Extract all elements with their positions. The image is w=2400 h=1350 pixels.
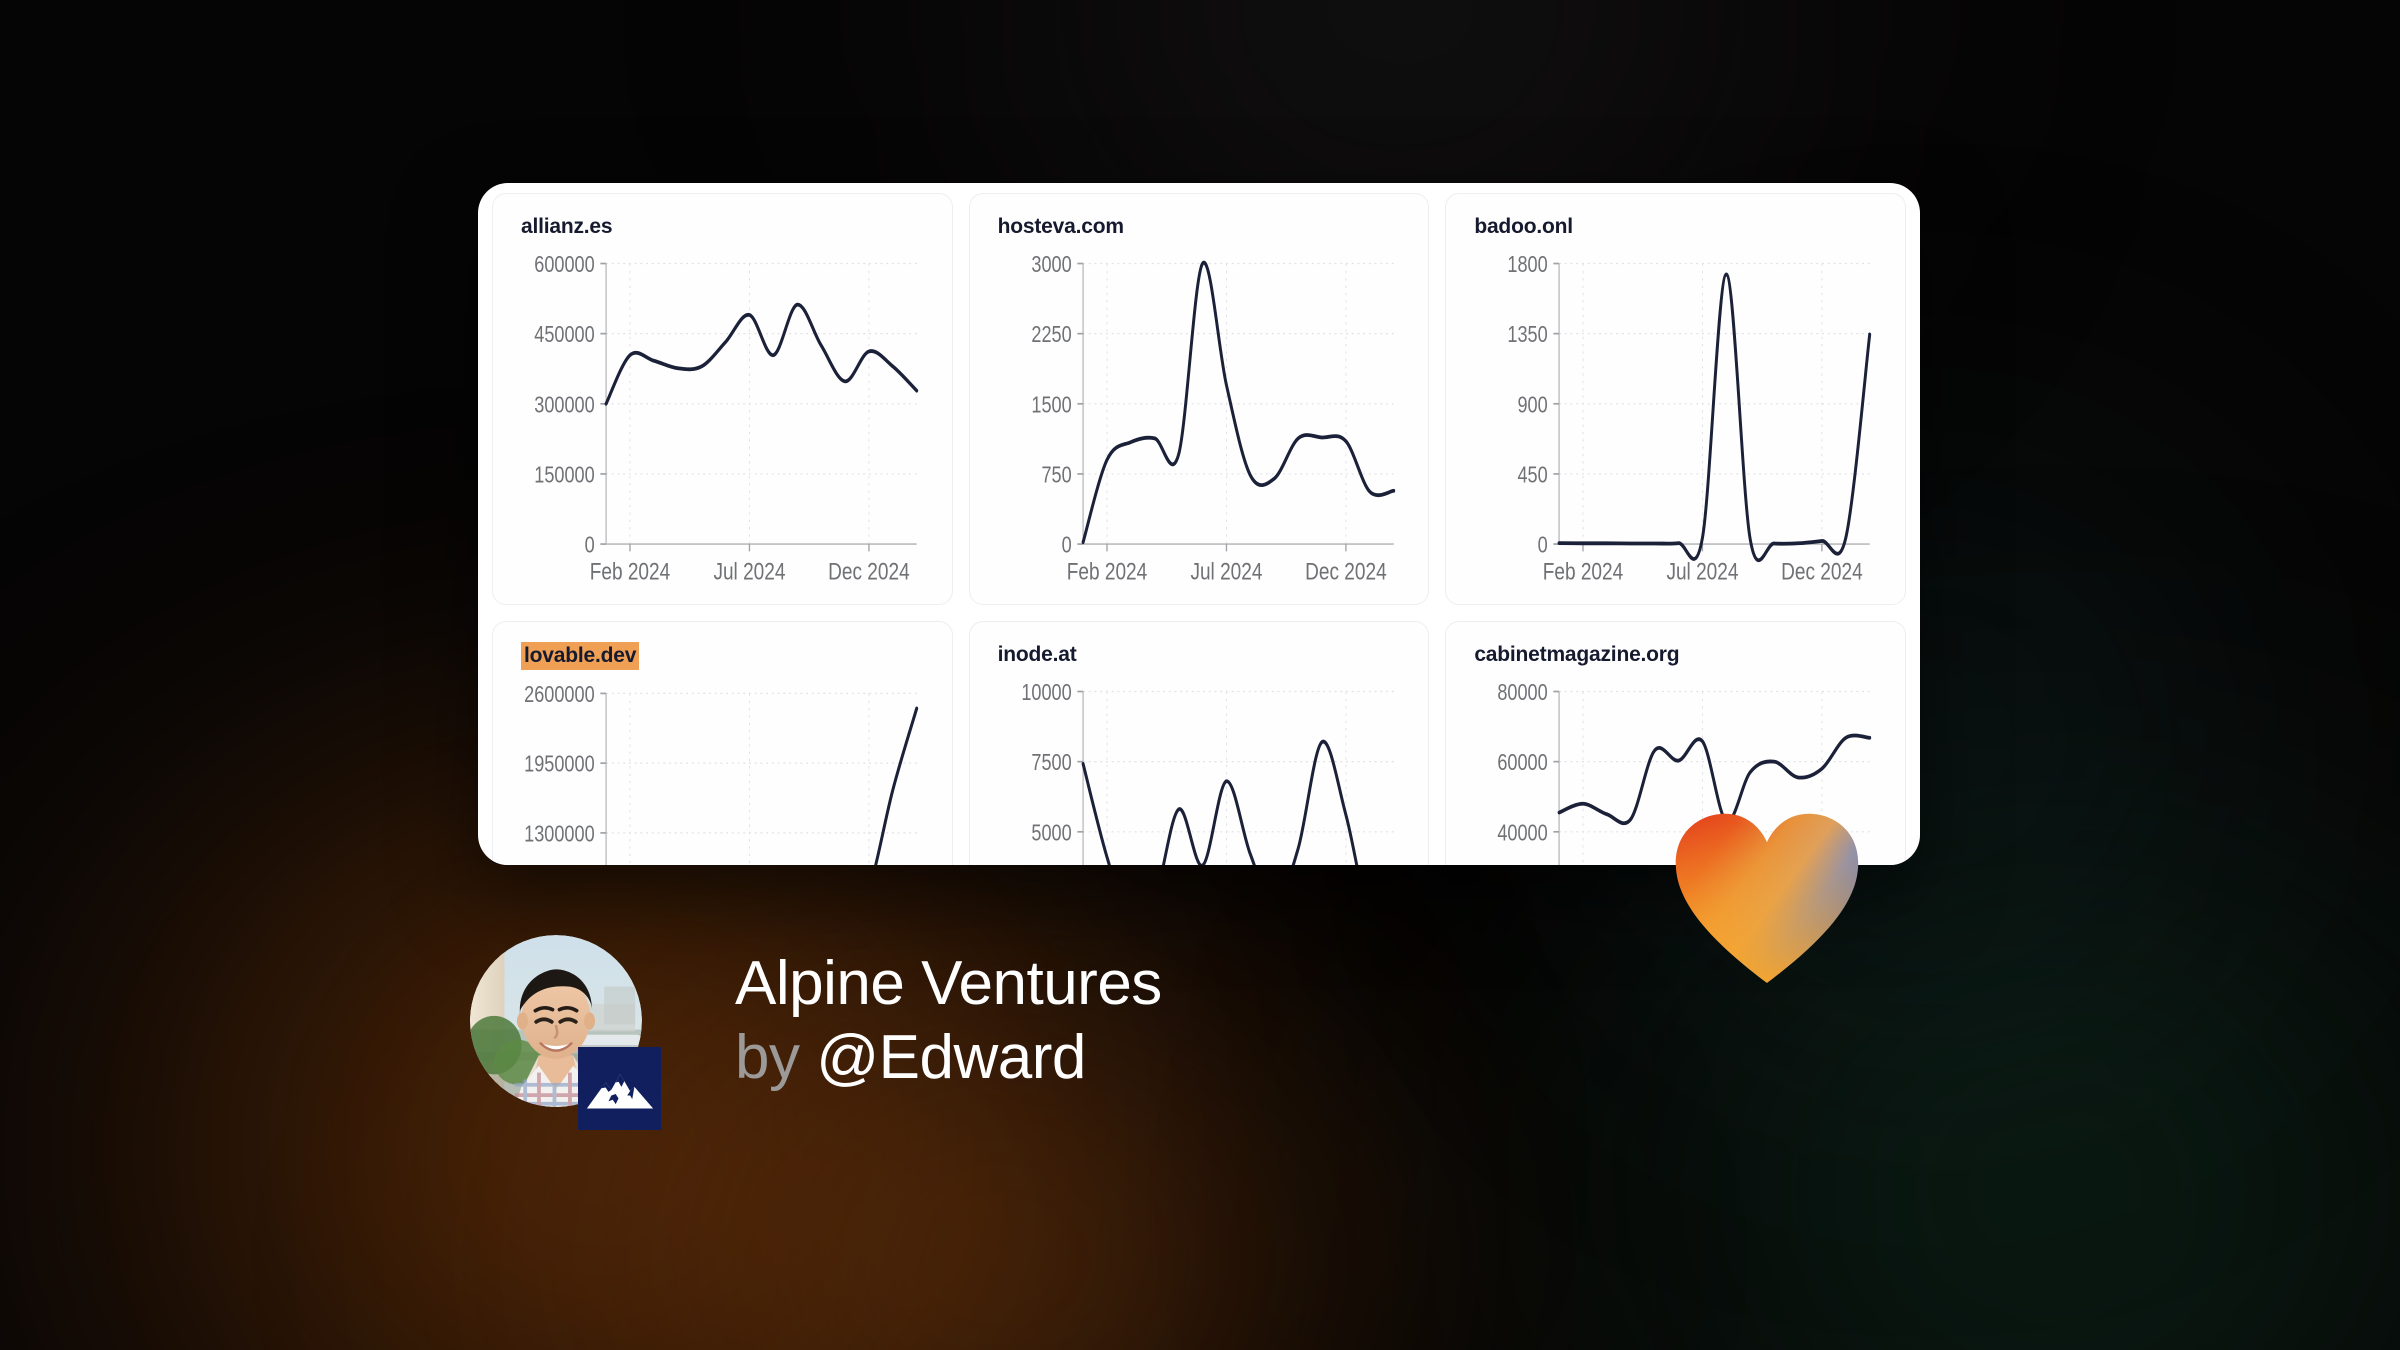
svg-text:3000: 3000 <box>1031 252 1071 278</box>
svg-text:Jul 2024: Jul 2024 <box>713 557 785 585</box>
chart-plot: 0150000300000450000600000Feb 2024Jul 202… <box>507 244 938 598</box>
chart-card-title: lovable.dev <box>521 642 639 670</box>
brand-handle: @Edward <box>816 1023 1086 1092</box>
brand-byline: by @Edward <box>735 1025 1162 1091</box>
by-label: by <box>735 1023 799 1092</box>
svg-text:600000: 600000 <box>534 252 594 278</box>
svg-text:60000: 60000 <box>1498 750 1548 776</box>
svg-text:Dec 2024: Dec 2024 <box>1305 557 1387 585</box>
svg-text:0: 0 <box>1538 533 1548 559</box>
gradient-heart-icon <box>1672 810 1862 985</box>
svg-text:Dec 2024: Dec 2024 <box>1781 557 1863 585</box>
chart-plot: 045090013501800Feb 2024Jul 2024Dec 2024 <box>1460 244 1891 598</box>
avatar-wrapper <box>470 935 642 1107</box>
chart-card[interactable]: allianz.es0150000300000450000600000Feb 2… <box>492 193 953 605</box>
svg-text:Dec 2024: Dec 2024 <box>828 557 910 585</box>
svg-text:2600000: 2600000 <box>524 682 594 708</box>
chart-plot: 0750150022503000Feb 2024Jul 2024Dec 2024 <box>984 244 1415 598</box>
svg-text:0: 0 <box>585 533 595 559</box>
svg-text:1950000: 1950000 <box>524 752 594 778</box>
svg-text:Feb 2024: Feb 2024 <box>1066 557 1146 585</box>
svg-text:1350: 1350 <box>1508 322 1548 348</box>
chart-card[interactable]: inode.at25005000750010000Feb 2024Jul 202… <box>969 621 1430 865</box>
svg-text:Feb 2024: Feb 2024 <box>590 557 670 585</box>
svg-text:750: 750 <box>1041 463 1071 489</box>
chart-card-title: inode.at <box>998 642 1077 668</box>
chart-card[interactable]: lovable.dev650000130000019500002600000Fe… <box>492 621 953 865</box>
chart-grid: allianz.es0150000300000450000600000Feb 2… <box>478 183 1920 865</box>
chart-card-title: cabinetmagazine.org <box>1474 642 1679 668</box>
branding-block: Alpine Ventures by @Edward <box>470 935 1162 1107</box>
svg-text:10000: 10000 <box>1021 680 1071 706</box>
svg-text:2250: 2250 <box>1031 322 1071 348</box>
svg-text:1500: 1500 <box>1031 393 1071 419</box>
svg-text:Jul 2024: Jul 2024 <box>1667 557 1739 585</box>
svg-text:1300000: 1300000 <box>524 822 594 848</box>
svg-text:Jul 2024: Jul 2024 <box>1190 557 1262 585</box>
chart-card-title: hosteva.com <box>998 214 1124 240</box>
svg-text:Feb 2024: Feb 2024 <box>1543 557 1623 585</box>
dashboard-panel: allianz.es0150000300000450000600000Feb 2… <box>478 183 1920 865</box>
brand-title: Alpine Ventures <box>735 951 1162 1017</box>
chart-card[interactable]: badoo.onl045090013501800Feb 2024Jul 2024… <box>1445 193 1906 605</box>
svg-text:300000: 300000 <box>534 393 594 419</box>
chart-card-title: badoo.onl <box>1474 214 1573 240</box>
svg-text:40000: 40000 <box>1498 821 1548 847</box>
chart-plot: 650000130000019500002600000Feb 2024Jul 2… <box>507 674 938 865</box>
svg-text:900: 900 <box>1518 393 1548 419</box>
brand-text: Alpine Ventures by @Edward <box>735 951 1162 1090</box>
svg-text:0: 0 <box>1061 533 1071 559</box>
svg-text:5000: 5000 <box>1031 821 1071 847</box>
svg-text:7500: 7500 <box>1031 750 1071 776</box>
svg-text:1800: 1800 <box>1508 252 1548 278</box>
chart-card[interactable]: hosteva.com0750150022503000Feb 2024Jul 2… <box>969 193 1430 605</box>
svg-text:450: 450 <box>1518 463 1548 489</box>
chart-card-title: allianz.es <box>521 214 612 240</box>
svg-text:80000: 80000 <box>1498 680 1548 706</box>
svg-text:450000: 450000 <box>534 322 594 348</box>
mountain-logo-badge <box>578 1047 661 1130</box>
svg-text:150000: 150000 <box>534 463 594 489</box>
chart-plot: 25005000750010000Feb 2024Jul 2024Dec 202… <box>984 672 1415 865</box>
